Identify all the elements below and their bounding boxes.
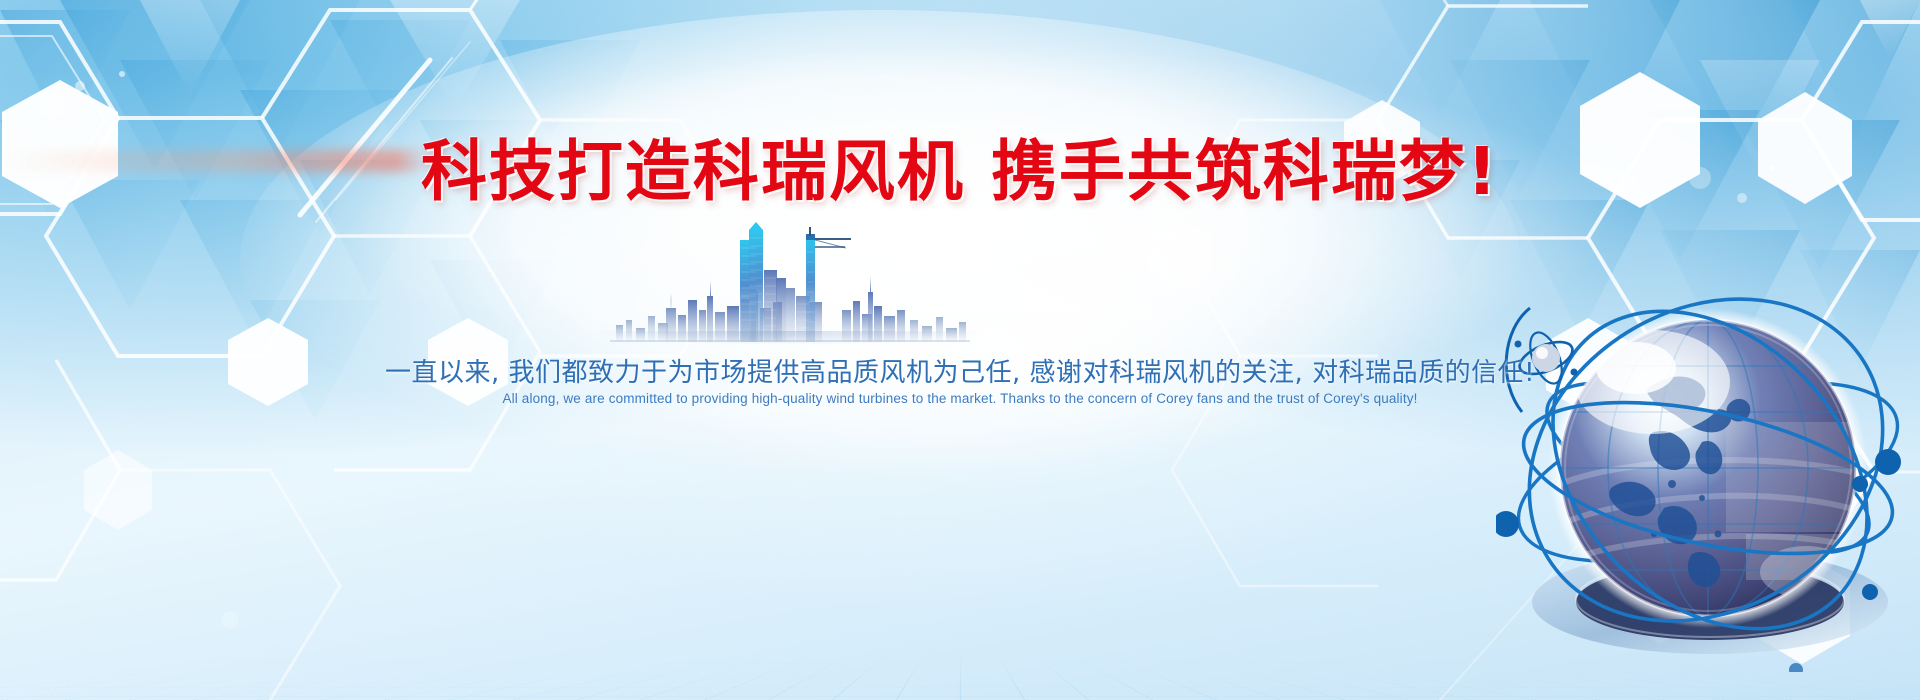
banner-subtitle-chinese: 一直以来, 我们都致力于为市场提供高品质风机为己任, 感谢对科瑞风机的关注, 对… [0, 352, 1920, 389]
banner-headline: 科技打造科瑞风机携手共筑科瑞梦! [0, 118, 1920, 214]
promo-banner: 科技打造科瑞风机携手共筑科瑞梦! 一直以来, 我们都致力于为市场提供高品质风机为… [0, 0, 1920, 700]
banner-subtitle-english: All along, we are committed to providing… [0, 391, 1920, 406]
headline-part-1: 科技打造科瑞风机 [421, 133, 965, 210]
headline-part-2: 携手共筑科瑞梦! [991, 133, 1499, 210]
banner-text-content: 科技打造科瑞风机携手共筑科瑞梦! 一直以来, 我们都致力于为市场提供高品质风机为… [0, 0, 1920, 700]
